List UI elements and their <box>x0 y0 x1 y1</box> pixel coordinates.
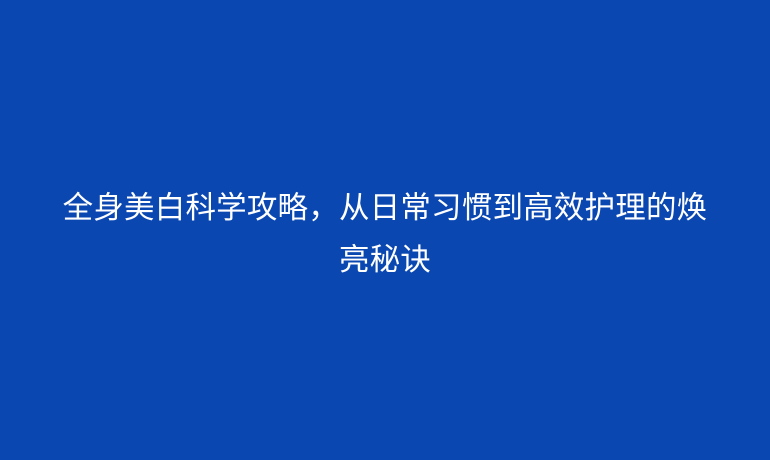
title-card: 全身美白科学攻略，从日常习惯到高效护理的焕亮秘诀 <box>0 0 770 460</box>
page-title: 全身美白科学攻略，从日常习惯到高效护理的焕亮秘诀 <box>55 183 715 287</box>
title-block: 全身美白科学攻略，从日常习惯到高效护理的焕亮秘诀 <box>0 183 770 287</box>
